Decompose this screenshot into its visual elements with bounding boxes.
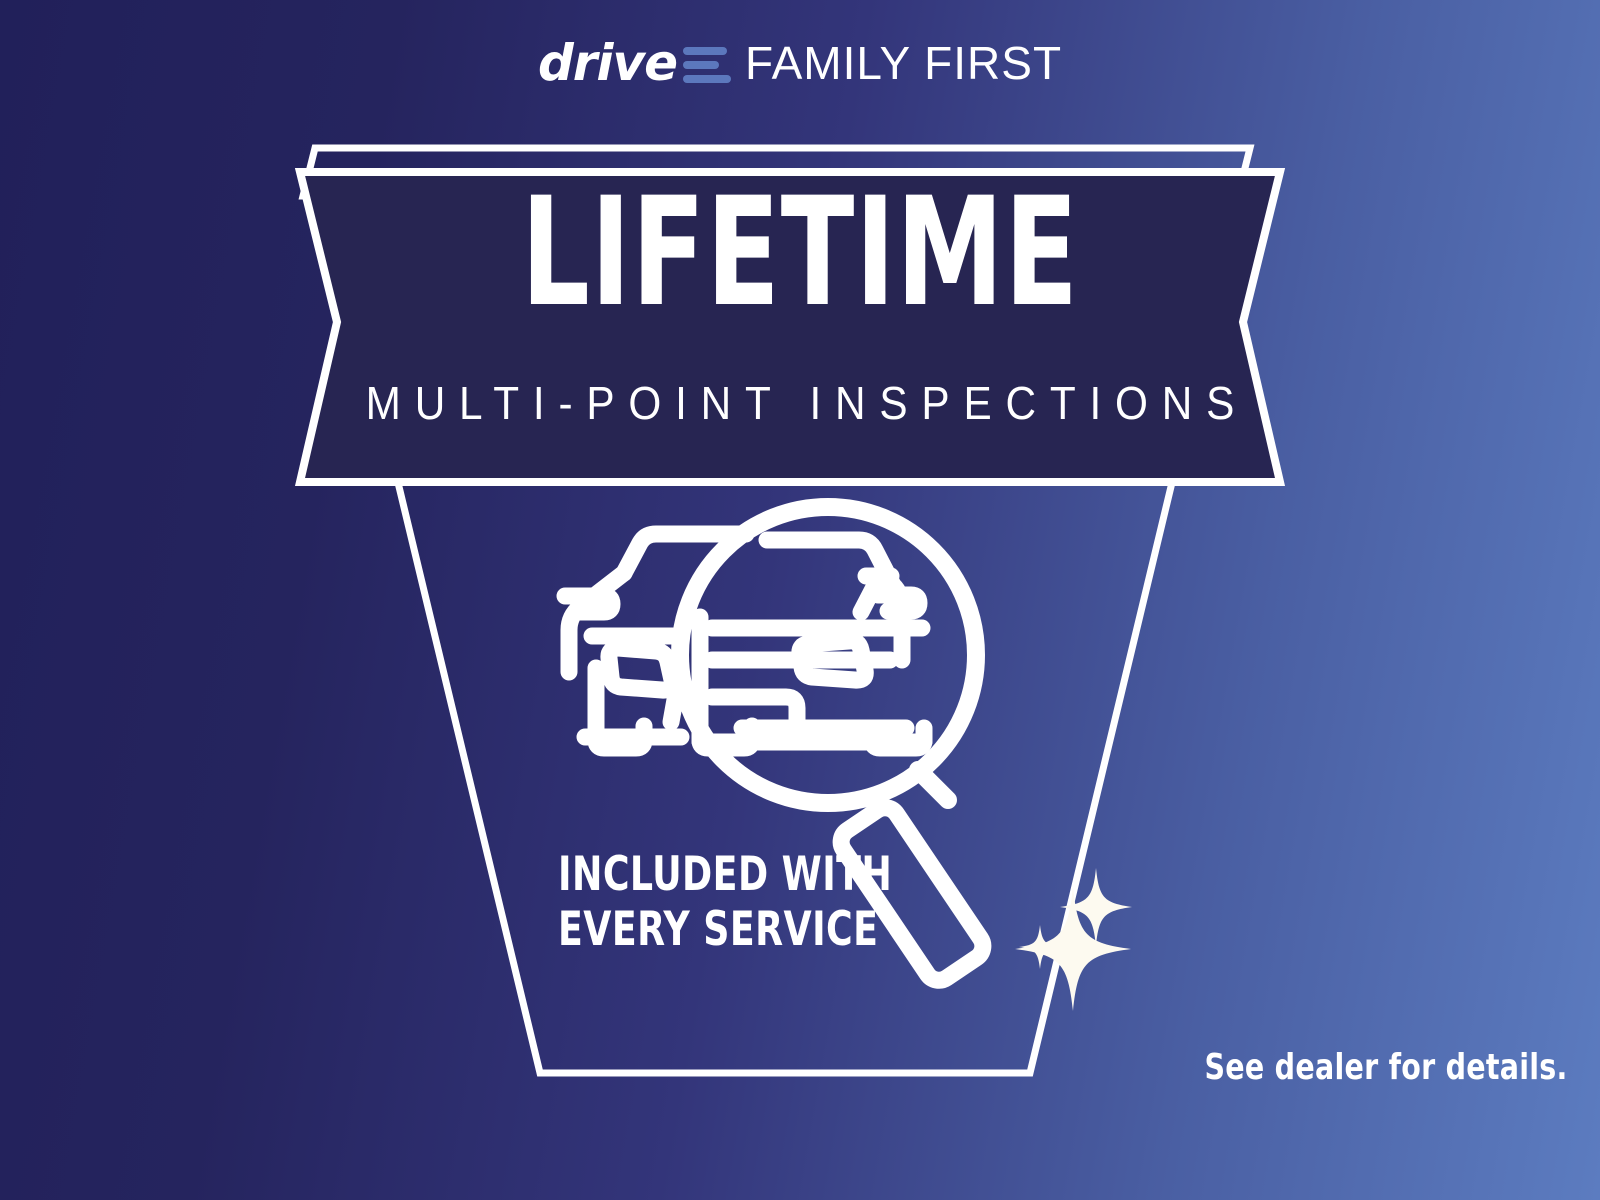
promo-card: drive FAMILY FIRST — [0, 0, 1600, 1200]
badge-subtitle: MULTI-POINT INSPECTIONS — [64, 380, 1536, 426]
badge-title: LIFETIME — [160, 178, 1440, 328]
trapezoid-outline — [395, 470, 1175, 1073]
badge-body-line-1: INCLUDED WITH — [558, 848, 892, 903]
badge-body-copy: INCLUDED WITH EVERY SERVICE — [558, 848, 892, 957]
badge-body-line-2: EVERY SERVICE — [558, 903, 892, 958]
disclaimer-text: See dealer for details. — [1205, 1050, 1568, 1086]
